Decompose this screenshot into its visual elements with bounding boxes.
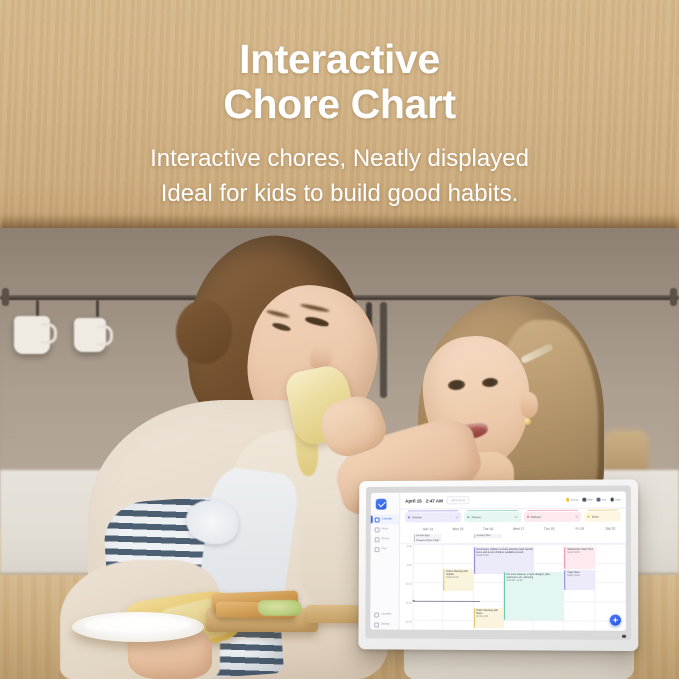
day-header[interactable]: Mon 15 (443, 527, 473, 531)
avatar[interactable]: Mike (582, 498, 592, 502)
day-header[interactable]: Sat 20 (595, 526, 626, 530)
chip-label: Chores (472, 515, 481, 519)
event-subtitle: 11:00-11:30 (476, 616, 502, 619)
calendar-event[interactable]: Online Meeting with SophiaSarah Smith (444, 569, 474, 591)
lettuce-leaf (258, 600, 302, 616)
event-title: Online Meeting with Sleep (476, 609, 502, 616)
filter-chip-parkour[interactable]: Parkour 05 (524, 512, 582, 522)
event-subtitle: 9:00 AM - 11:00 (506, 580, 563, 583)
sidebar-item-photos[interactable]: Photos (371, 534, 399, 544)
sidebar-nav-top: Calendar Home Photos Lists (371, 514, 400, 554)
time-label: 9:00 (407, 564, 412, 567)
sidebar-item-calendar[interactable]: Calendar (371, 514, 399, 524)
avatar-name: Ava (602, 498, 606, 501)
avatar-name: Liam (615, 498, 621, 501)
timezone-selector[interactable]: GMT+05:30 (447, 496, 470, 504)
add-event-button[interactable] (610, 614, 621, 625)
chip-count: 05 (575, 515, 578, 518)
category-filter-row: Kitchen 12 Chores 08 Parkour 05 Work (400, 509, 626, 525)
sidebar-item-home[interactable]: Home (371, 524, 399, 534)
time-label: 8:00 (407, 545, 412, 548)
all-day-cell[interactable]: Grocery Run (473, 533, 503, 543)
day-header[interactable]: Thu 18 (534, 526, 565, 530)
tablet-bezel: Calendar Home Photos Lists Checklist Set… (365, 485, 631, 640)
current-date: April 15 (405, 498, 422, 503)
sidebar-item-checklist[interactable]: Checklist (370, 610, 399, 620)
home-icon (375, 527, 380, 532)
calendar-event[interactable]: Taekwondo Class TimeSarah Smith (565, 547, 596, 569)
tablet-indicator (622, 635, 626, 638)
hanging-mug (74, 318, 106, 352)
calendar-grid[interactable]: Accompany children to study delicious fo… (413, 544, 627, 631)
event-title: Accompany children to study delicious fo… (476, 548, 532, 554)
mother-hair-bun (176, 300, 232, 364)
calendar-event[interactable]: For mom cleanup, 2 style designs, plan, … (504, 572, 565, 620)
all-day-event[interactable]: Grocery Run (474, 534, 502, 538)
hanging-mug (14, 316, 50, 354)
chip-accent-bar (467, 510, 517, 511)
avatar[interactable]: Ava (597, 498, 606, 502)
app-main: April 15 2:47 AM GMT+05:30 Emma Mike Ava… (400, 491, 626, 630)
page-subtitle: Interactive chores, Neatly displayed Ide… (0, 141, 679, 211)
girl-earring (524, 418, 531, 425)
sidebar-item-label: Settings (381, 623, 390, 627)
time-label: 11:00 (406, 602, 412, 605)
chip-dot-icon (467, 516, 469, 518)
all-day-cell[interactable] (443, 533, 473, 543)
sidebar-item-settings[interactable]: Settings (370, 620, 399, 630)
avatar-dot (566, 498, 570, 502)
chip-count: 08 (515, 516, 518, 519)
chip-dot-icon (527, 516, 529, 518)
headline-line-2: Chore Chart (0, 82, 679, 127)
all-day-cell[interactable] (564, 533, 595, 543)
rail-hook (96, 300, 99, 317)
event-subtitle: Sarah Smith (476, 555, 532, 558)
avatar-name: Emma (571, 498, 579, 501)
day-header[interactable]: Tue 16 (473, 527, 503, 531)
avatar-dot (582, 498, 586, 502)
avatar-name: Mike (587, 498, 593, 501)
event-subtitle: Sarah Smith (567, 575, 594, 578)
app-topbar: April 15 2:47 AM GMT+05:30 Emma Mike Ava… (400, 491, 626, 509)
chip-accent-bar (527, 510, 579, 511)
sidebar-item-label: Home (381, 527, 388, 531)
chip-accent-bar (587, 510, 617, 511)
calendar-event[interactable]: Yoga ClassSarah Smith (565, 570, 596, 590)
day-header[interactable]: Sun 14 (413, 527, 443, 531)
day-header[interactable]: Wed 17 (503, 526, 533, 530)
tablet-screen: Calendar Home Photos Lists Checklist Set… (370, 491, 626, 630)
day-column[interactable] (413, 544, 443, 630)
list-icon (375, 547, 380, 552)
plate-rim (84, 616, 192, 633)
event-title: Taekwondo Class Time (567, 548, 594, 551)
time-label: 10:00 (406, 583, 412, 586)
subheadline-line-1: Interactive chores, Neatly displayed (0, 141, 679, 176)
all-day-cell[interactable] (595, 533, 626, 543)
chip-label: Kitchen (412, 515, 422, 519)
sidebar-nav-bottom: Checklist Settings (370, 610, 399, 630)
chip-dot-icon (587, 516, 589, 518)
filter-chip-chores[interactable]: Chores 08 (464, 512, 520, 522)
rail-end-right (670, 288, 677, 306)
sidebar-item-label: Photos (381, 537, 389, 541)
time-axis: 8:009:0010:0011:0012:00 (400, 544, 413, 630)
calendar-check-icon[interactable] (376, 499, 387, 510)
current-time-indicator (414, 601, 480, 602)
all-day-event[interactable]: Dentist Appt (414, 534, 442, 538)
event-title: Online Meeting with Sophia (446, 570, 472, 576)
time-label: 12:00 (405, 621, 411, 624)
calendar-icon (375, 517, 380, 522)
event-title: Yoga Class (567, 571, 594, 574)
calendar-grid-area: 8:009:0010:0011:0012:00 Accompany childr… (400, 544, 626, 631)
filter-chip-kitchen[interactable]: Kitchen 12 (405, 512, 461, 522)
event-subtitle: Sarah Smith (446, 577, 472, 580)
calendar-event[interactable]: Accompany children to study delicious fo… (474, 547, 535, 574)
chip-accent-bar (408, 511, 458, 512)
avatar-dot (597, 498, 601, 502)
product-banner: Interactive Chore Chart Interactive chor… (0, 0, 679, 679)
event-title: For mom cleanup, 2 style designs, plan, … (506, 573, 563, 579)
event-subtitle: Sarah Smith (567, 552, 594, 555)
all-day-cell[interactable] (503, 533, 533, 543)
avatar-dot (610, 498, 614, 502)
rail-end-left (2, 288, 9, 306)
photo-icon (375, 537, 380, 542)
avatar[interactable]: Liam (610, 498, 621, 502)
all-day-cell[interactable] (534, 533, 565, 543)
all-day-row: Dentist ApptPrepare Chore ChartGrocery R… (400, 533, 626, 544)
filter-chip-work[interactable]: Work (584, 512, 620, 522)
page-title: Interactive Chore Chart (0, 37, 679, 127)
current-time: 2:47 AM (426, 498, 443, 503)
subheadline-line-2: Ideal for kids to build good habits. (0, 176, 679, 211)
app-sidebar: Calendar Home Photos Lists Checklist Set… (370, 493, 400, 630)
sidebar-item-lists[interactable]: Lists (371, 544, 399, 554)
sidebar-spacer (370, 554, 399, 610)
headline-line-1: Interactive (0, 37, 679, 82)
chip-label: Parkour (531, 515, 541, 519)
calendar-event[interactable]: Online Meeting with Sleep11:00-11:30 (474, 608, 504, 628)
girl-ear (520, 392, 538, 418)
member-avatars: Emma Mike Ava Liam (566, 498, 621, 502)
checklist-icon (374, 612, 379, 617)
sidebar-item-label: Checklist (381, 613, 391, 617)
chip-dot-icon (408, 516, 410, 518)
day-header[interactable]: Fri 19 (564, 526, 595, 530)
tablet-device: Calendar Home Photos Lists Checklist Set… (358, 479, 638, 651)
avatar[interactable]: Emma (566, 498, 578, 502)
sidebar-item-label: Lists (381, 547, 386, 551)
gear-icon (374, 622, 379, 627)
all-day-cell[interactable]: Dentist ApptPrepare Chore Chart (413, 533, 443, 543)
all-day-event[interactable]: Prepare Chore Chart (414, 538, 442, 542)
chip-label: Work (592, 515, 599, 519)
hanging-utensil (380, 302, 387, 398)
chip-count: 12 (456, 516, 459, 519)
rail-hook (36, 300, 39, 317)
sidebar-item-label: Calendar (382, 517, 392, 521)
